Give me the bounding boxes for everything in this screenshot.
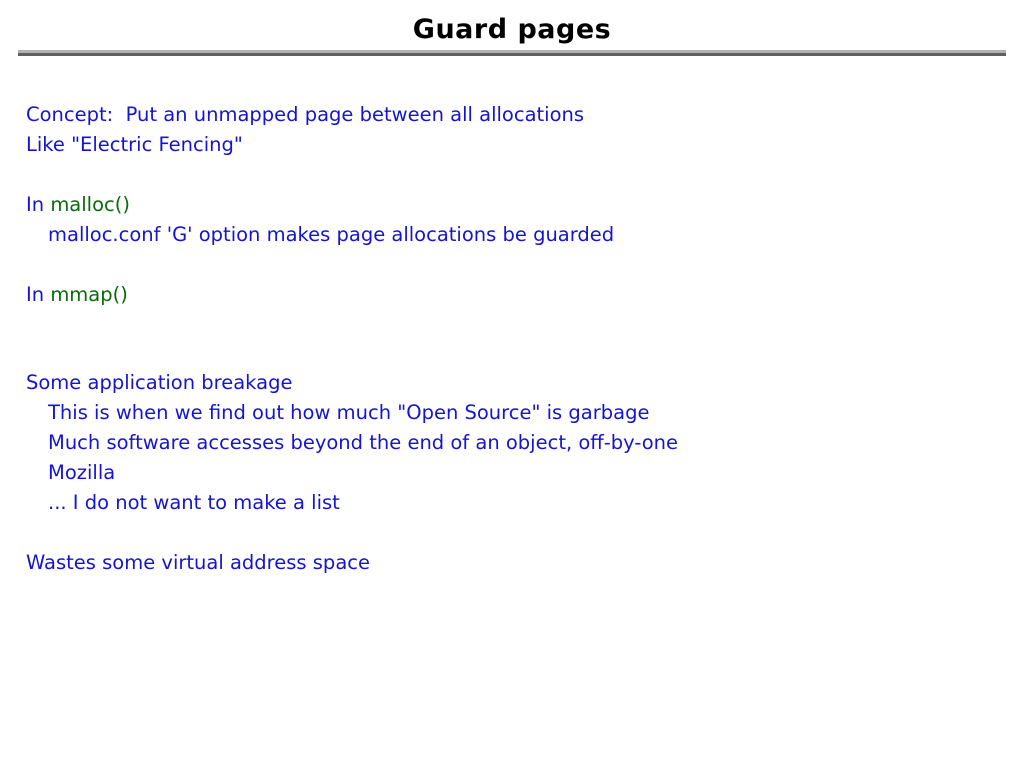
slide-body: Concept: Put an unmapped page between al… <box>26 100 986 578</box>
concept-line-1: Concept: Put an unmapped page between al… <box>26 100 986 130</box>
breakage-item-4: ... I do not want to make a list <box>48 488 986 518</box>
slide: Guard pages Concept: Put an unmapped pag… <box>0 0 1024 768</box>
malloc-conf-line: malloc.conf 'G' option makes page alloca… <box>48 220 986 250</box>
block-malloc: In malloc() malloc.conf 'G' option makes… <box>26 190 986 250</box>
slide-title: Guard pages <box>0 14 1024 46</box>
mmap-heading-prefix: In <box>26 283 50 306</box>
malloc-code-token: malloc() <box>50 193 130 216</box>
wastes-line: Wastes some virtual address space <box>26 548 986 578</box>
malloc-heading-prefix: In <box>26 193 50 216</box>
breakage-item-2: Much software accesses beyond the end of… <box>48 428 986 458</box>
title-divider <box>18 50 1006 56</box>
breakage-heading: Some application breakage <box>26 368 986 398</box>
block-wastes: Wastes some virtual address space <box>26 548 986 578</box>
block-concept: Concept: Put an unmapped page between al… <box>26 100 986 160</box>
breakage-item-1: This is when we find out how much "Open … <box>48 398 986 428</box>
malloc-heading: In malloc() <box>26 190 986 220</box>
mmap-code-token: mmap() <box>50 283 128 306</box>
concept-line-2: Like "Electric Fencing" <box>26 130 986 160</box>
spacer-1 <box>26 160 986 190</box>
spacer-4 <box>26 518 986 548</box>
block-breakage: Some application breakage This is when w… <box>26 368 986 518</box>
spacer-3 <box>26 310 986 338</box>
breakage-item-3: Mozilla <box>48 458 986 488</box>
spacer-2 <box>26 250 986 280</box>
title-divider-bottom <box>18 53 1006 56</box>
mmap-heading: In mmap() <box>26 280 986 310</box>
block-mmap: In mmap() <box>26 280 986 310</box>
spacer-3b <box>26 338 986 368</box>
